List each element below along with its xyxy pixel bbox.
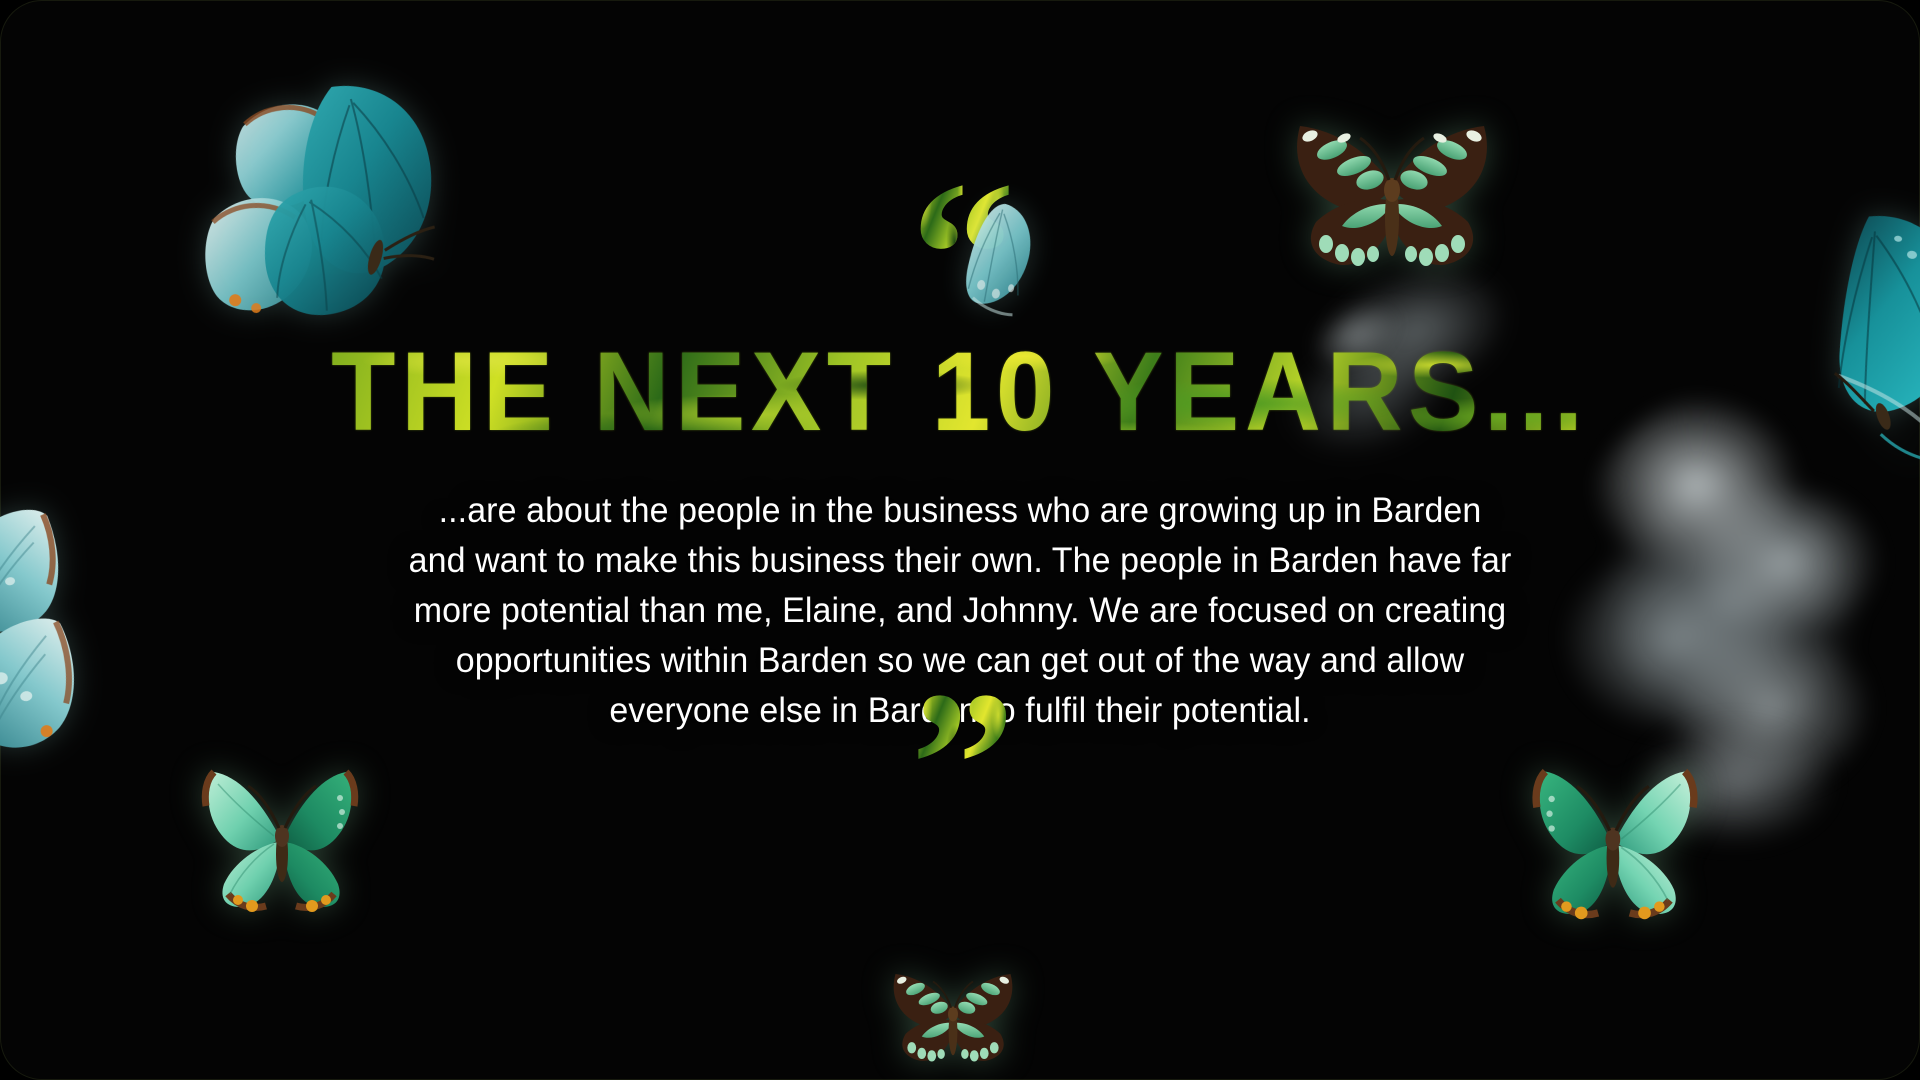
body-line-2: and want to make this business their own… <box>262 536 1659 586</box>
butterfly-malachite-bottom-center <box>878 960 1028 1078</box>
headline-container: THE NEXT 10 YEARS... <box>0 336 1920 448</box>
presentation-slide: “ THE NEXT 10 <box>0 0 1920 1080</box>
closing-quote-mark: ” <box>0 660 1920 870</box>
slide-headline: THE NEXT 10 YEARS... <box>331 336 1589 448</box>
closing-quote-glyph: ” <box>911 660 1010 870</box>
body-line-3: more potential than me, Elaine, and John… <box>262 586 1659 636</box>
body-line-1: ...are about the people in the business … <box>262 486 1659 536</box>
